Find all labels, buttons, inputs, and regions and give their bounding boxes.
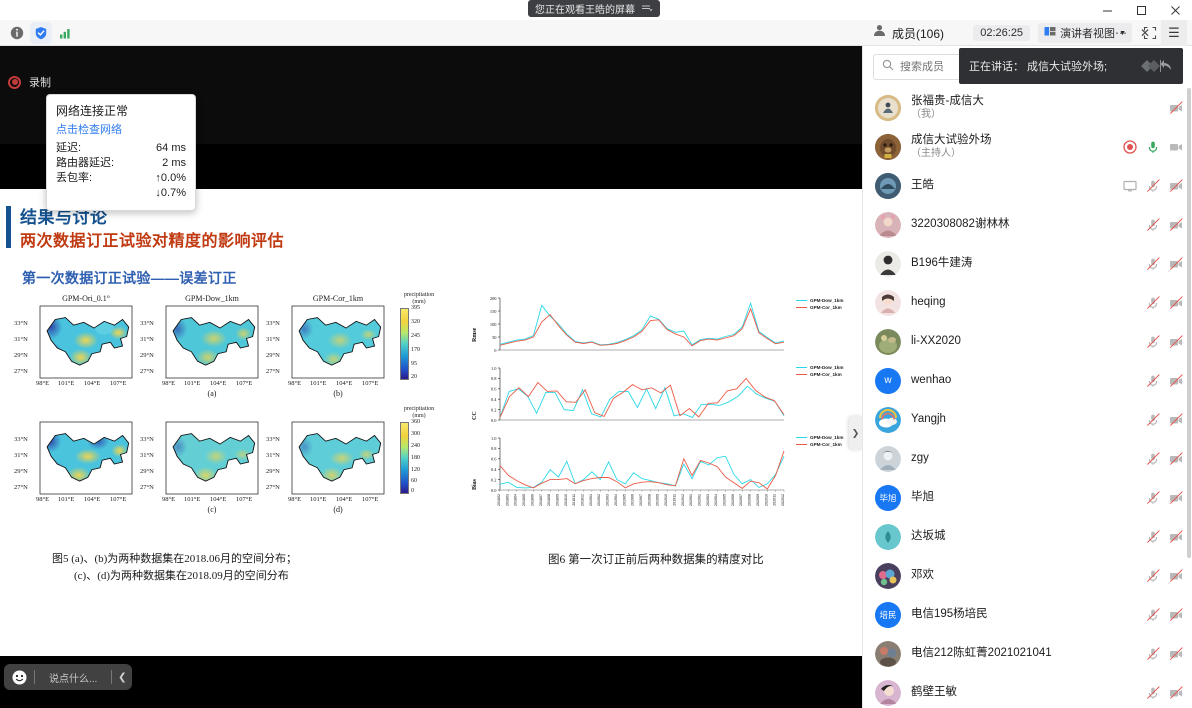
map-sublabel-d: (d) xyxy=(292,505,384,514)
participant-name: wenhao xyxy=(911,374,951,387)
svg-text:0.8: 0.8 xyxy=(491,446,497,451)
svg-text:202001: 202001 xyxy=(689,494,693,506)
svg-text:202002: 202002 xyxy=(698,494,702,506)
participants-panel-title: 成员(106) xyxy=(892,25,944,42)
microphone-off-icon[interactable] xyxy=(1146,530,1160,544)
microphone-off-icon[interactable] xyxy=(1146,374,1160,388)
panel-collapse-handle[interactable]: ❯ xyxy=(849,416,862,450)
camera-off-icon[interactable] xyxy=(1169,569,1183,583)
check-network-link[interactable]: 点击检查网络 xyxy=(56,121,186,137)
figure5-caption: 图5 (a)、(b)为两种数据集在2018.06月的空间分布； (c)、(d)为… xyxy=(52,551,372,585)
avatar xyxy=(875,680,901,706)
participant-status-icons xyxy=(1146,491,1183,505)
svg-text:0.6: 0.6 xyxy=(491,387,497,392)
map-figure-group: GPM-Ori_0.1° GPM-Dow_1km GPM-Cor_1km 33°… xyxy=(14,294,454,524)
participant-status-icons xyxy=(1123,179,1183,193)
participant-status-icons xyxy=(1146,296,1183,310)
svg-text:201808: 201808 xyxy=(547,494,551,506)
participant-status-icons xyxy=(1146,647,1183,661)
list-item[interactable]: w wenhao xyxy=(863,361,1192,400)
screen-share-menu-icon[interactable] xyxy=(641,4,653,14)
list-item[interactable]: 成信大试验外场 （主持人） xyxy=(863,127,1192,166)
cc-legend: GPM-Dow_1km GPM-Cor_1km xyxy=(796,364,843,378)
svg-text:201911: 201911 xyxy=(672,494,676,506)
packetloss-down-value: ↓0.7% xyxy=(56,186,186,201)
chat-input-placeholder[interactable]: 说点什么... xyxy=(35,670,111,685)
participant-name: 达坂城 xyxy=(911,530,946,543)
svg-text:201804: 201804 xyxy=(514,494,518,506)
screen-share-notice: 您正在观看王皓的屏幕 xyxy=(528,0,660,17)
svg-text:202006: 202006 xyxy=(731,494,735,506)
network-status-tooltip: 网络连接正常 点击检查网络 延迟: 64 ms 路由器延迟: 2 ms 丢包率:… xyxy=(46,94,196,211)
map-panel-5 xyxy=(166,422,261,494)
recording-label: 录制 xyxy=(29,74,51,90)
svg-text:202005: 202005 xyxy=(723,494,727,506)
map-panel-2 xyxy=(166,306,261,378)
signal-bars-icon[interactable] xyxy=(54,22,76,44)
bias-legend: GPM-Dow_1km GPM-Cor_1km xyxy=(796,434,843,448)
microphone-off-icon[interactable] xyxy=(1146,686,1160,700)
minimize-button[interactable] xyxy=(1090,0,1124,20)
microphone-off-icon[interactable] xyxy=(1146,296,1160,310)
avatar xyxy=(875,251,901,277)
camera-off-icon[interactable] xyxy=(1169,413,1183,427)
participant-name: 成信大试验外场 xyxy=(911,134,992,147)
avatar: 培民 xyxy=(875,602,901,628)
microphone-off-icon[interactable] xyxy=(1146,491,1160,505)
svg-text:201901: 201901 xyxy=(589,494,593,506)
map-xticks-1: 98°E 101°E 104°E 107°E xyxy=(40,379,132,389)
avatar-initial: 培民 xyxy=(879,609,896,621)
window-controls xyxy=(1090,0,1192,20)
map-panel-4 xyxy=(39,422,135,494)
svg-text:0.0: 0.0 xyxy=(491,488,497,493)
svg-text:202007: 202007 xyxy=(739,494,743,506)
slide-heading-2: 两次数据订正试验对精度的影响评估 xyxy=(20,227,284,251)
svg-text:201803: 201803 xyxy=(505,494,509,506)
svg-text:1.0: 1.0 xyxy=(491,366,497,371)
presentation-slide: 结果与讨论 两次数据订正试验对精度的影响评估 第一次数据订正试验——误差订正 xyxy=(0,189,862,656)
svg-text:200: 200 xyxy=(490,296,497,301)
camera-off-icon[interactable] xyxy=(1169,686,1183,700)
colorbar-top-gradient xyxy=(400,308,409,380)
map-panel-6 xyxy=(292,422,387,494)
participant-status-icons xyxy=(1146,374,1183,388)
avatar xyxy=(875,329,901,355)
avatar: w xyxy=(875,368,901,394)
microphone-off-icon[interactable] xyxy=(1146,179,1160,193)
avatar xyxy=(875,212,901,238)
series-GPM-Dow_1km xyxy=(500,386,784,417)
colorbar-bottom-ticks: 360 300 240 180 120 60 0 xyxy=(411,422,439,494)
svg-text:0.0: 0.0 xyxy=(491,418,497,423)
series-GPM-Dow_1km xyxy=(500,303,784,345)
participants-panel-header: 成员(106) ⋯ ✕ ☰ xyxy=(863,20,1192,46)
record-icon xyxy=(8,76,21,89)
list-item[interactable]: 达坂城 xyxy=(863,517,1192,556)
map-xticks-5: 98°E 101°E 104°E 107°E xyxy=(166,495,258,505)
camera-icon[interactable] xyxy=(1169,140,1183,154)
chat-input-bar[interactable]: 说点什么... ❮ xyxy=(4,664,132,690)
slide-heading-3: 第一次数据订正试验——误差订正 xyxy=(22,268,237,288)
list-item[interactable]: 张福贵-成信大 （我） xyxy=(863,88,1192,127)
participant-name: B196牛建涛 xyxy=(911,257,972,270)
participant-name: 鹤壁王敏 xyxy=(911,686,957,699)
map-title-1: GPM-Ori_0.1° xyxy=(40,294,132,303)
svg-text:201905: 201905 xyxy=(622,494,626,506)
screen-letterbox-bottom: 说点什么... ❮ xyxy=(0,656,862,708)
camera-off-icon[interactable] xyxy=(1169,374,1183,388)
list-item[interactable]: 鹤壁王敏 xyxy=(863,673,1192,708)
participant-name: 王皓 xyxy=(911,179,934,192)
chart-bias: 0.00.20.40.60.81.0 xyxy=(491,436,784,493)
avatar xyxy=(875,290,901,316)
router-latency-value: 2 ms xyxy=(162,156,186,171)
participant-name: li-XX2020 xyxy=(911,335,961,348)
svg-text:202003: 202003 xyxy=(706,494,710,506)
list-item[interactable]: li-XX2020 xyxy=(863,322,1192,361)
svg-text:202011: 202011 xyxy=(773,494,777,506)
participant-name: 张福贵-成信大 xyxy=(911,95,984,108)
latency-value: 64 ms xyxy=(156,141,186,156)
colorbar-bottom-label: precipitation (mm) xyxy=(396,406,442,420)
svg-text:201810: 201810 xyxy=(564,494,568,506)
participant-name: 毕旭 xyxy=(911,491,934,504)
speaking-tooltip: 正在讲话： 成信大试验外场; xyxy=(959,48,1183,84)
colorbar-bottom-gradient xyxy=(400,422,409,494)
chart-cc: 0.00.20.40.60.81.0 xyxy=(491,366,784,423)
participant-name: Yangjh xyxy=(911,413,946,426)
packetloss-up-value: ↑0.0% xyxy=(155,171,186,186)
camera-off-icon[interactable] xyxy=(1169,608,1183,622)
map-title-2: GPM-Dow_1km xyxy=(166,294,258,303)
info-icon[interactable] xyxy=(6,22,28,44)
list-item[interactable]: 毕旭 毕旭 xyxy=(863,478,1192,517)
svg-text:201910: 201910 xyxy=(664,494,668,506)
list-item[interactable]: B196牛建涛 xyxy=(863,244,1192,283)
list-item[interactable]: 培民 电信195杨培民 xyxy=(863,595,1192,634)
avatar xyxy=(875,446,901,472)
svg-text:0: 0 xyxy=(494,348,497,353)
record-icon[interactable] xyxy=(1123,140,1137,154)
map-panel-3 xyxy=(292,306,387,378)
speaking-tooltip-text: 正在讲话： 成信大试验外场; xyxy=(969,58,1107,74)
packetloss-label: 丢包率: xyxy=(56,171,92,186)
microphone-off-icon[interactable] xyxy=(1146,218,1160,232)
avatar xyxy=(875,95,901,121)
list-item[interactable]: 王皓 xyxy=(863,166,1192,205)
slide-accent-bar xyxy=(6,206,11,248)
chart-rmse: 050100150200 xyxy=(490,296,784,353)
figure5-caption-line1: 图5 (a)、(b)为两种数据集在2018.06月的空间分布； xyxy=(52,551,372,568)
camera-off-icon[interactable] xyxy=(1169,218,1183,232)
participant-status-icons xyxy=(1169,101,1183,115)
avatar xyxy=(875,134,901,160)
avatar-initial: 毕旭 xyxy=(879,492,896,504)
camera-off-icon[interactable] xyxy=(1169,491,1183,505)
svg-text:201805: 201805 xyxy=(522,494,526,506)
camera-off-icon[interactable] xyxy=(1169,257,1183,271)
people-icon xyxy=(873,24,886,42)
participant-name: heqing xyxy=(911,296,946,309)
screen-share-notice-text: 您正在观看王皓的屏幕 xyxy=(535,1,635,16)
svg-text:100: 100 xyxy=(490,322,497,327)
svg-text:201906: 201906 xyxy=(631,494,635,506)
router-latency-label: 路由器延迟: xyxy=(56,156,114,171)
avatar xyxy=(875,524,901,550)
svg-text:0.8: 0.8 xyxy=(491,376,497,381)
participant-status-icons xyxy=(1146,413,1183,427)
camera-off-icon[interactable] xyxy=(1169,179,1183,193)
svg-text:201802: 201802 xyxy=(497,494,501,506)
participant-role: （我） xyxy=(911,108,984,121)
svg-text:0.2: 0.2 xyxy=(491,477,497,482)
participant-role: （主持人） xyxy=(911,147,992,160)
svg-text:50: 50 xyxy=(492,335,497,340)
participant-list[interactable]: 张福贵-成信大 （我） 成信大试验外场 （主持人） xyxy=(863,88,1192,708)
participant-status-icons xyxy=(1146,452,1183,466)
participant-name: 邓欢 xyxy=(911,569,934,582)
map-sublabel-a: (a) xyxy=(166,389,258,398)
microphone-off-icon[interactable] xyxy=(1146,335,1160,349)
avatar-initial: w xyxy=(884,375,891,386)
svg-text:201912: 201912 xyxy=(681,494,685,506)
maximize-button[interactable] xyxy=(1124,0,1158,20)
camera-off-icon[interactable] xyxy=(1169,101,1183,115)
screen-share-icon[interactable] xyxy=(1123,179,1137,193)
participant-name: 电信195杨培民 xyxy=(911,608,988,621)
map-panel-1 xyxy=(40,306,135,378)
hamburger-icon[interactable]: ☰ xyxy=(1161,20,1187,46)
svg-text:201909: 201909 xyxy=(656,494,660,506)
svg-text:202012: 202012 xyxy=(781,494,785,506)
bias-axis-title: Bias xyxy=(472,479,478,490)
participant-name: 3220308082谢林林 xyxy=(911,218,1009,231)
map-sublabel-c: (c) xyxy=(166,505,258,514)
microphone-on-icon[interactable] xyxy=(1146,140,1160,154)
svg-text:201903: 201903 xyxy=(606,494,610,506)
latency-label: 延迟: xyxy=(56,141,81,156)
list-item[interactable]: 电信212陈虹菁2021021041 xyxy=(863,634,1192,673)
timeseries-svg: 0501001502000.00.20.40.60.81.00.00.20.40… xyxy=(466,292,854,542)
svg-text:202004: 202004 xyxy=(714,494,718,506)
network-router-latency-row: 路由器延迟: 2 ms xyxy=(56,156,186,171)
list-item[interactable]: zgy xyxy=(863,439,1192,478)
more-icon[interactable]: ⋯ xyxy=(1113,26,1129,40)
svg-text:150: 150 xyxy=(490,309,497,314)
shared-screen-area: 录制 网络连接正常 点击检查网络 延迟: 64 ms 路由器延迟: 2 ms 丢… xyxy=(0,46,862,708)
svg-text:0.4: 0.4 xyxy=(491,397,497,402)
participant-status-icons xyxy=(1146,686,1183,700)
svg-text:201902: 201902 xyxy=(597,494,601,506)
svg-text:1.0: 1.0 xyxy=(491,436,497,441)
figure5-caption-line2: (c)、(d)为两种数据集在2018.09月的空间分布 xyxy=(52,568,372,585)
colorbar-top: precipitation (mm) 395 320 245 170 95 20 xyxy=(396,292,442,380)
svg-text:201807: 201807 xyxy=(539,494,543,506)
map-xticks-3: 98°E 101°E 104°E 107°E xyxy=(292,379,384,389)
avatar xyxy=(875,407,901,433)
svg-text:201908: 201908 xyxy=(647,494,651,506)
participant-status-icons xyxy=(1146,569,1183,583)
svg-text:0.6: 0.6 xyxy=(491,457,497,462)
camera-off-icon[interactable] xyxy=(1169,530,1183,544)
microphone-off-icon[interactable] xyxy=(1146,257,1160,271)
security-shield-icon[interactable] xyxy=(30,22,52,44)
svg-text:202010: 202010 xyxy=(764,494,768,506)
search-icon xyxy=(882,58,894,76)
panel-scrollbar[interactable] xyxy=(1187,88,1191,558)
microphone-off-icon[interactable] xyxy=(1146,569,1160,583)
network-status-title: 网络连接正常 xyxy=(56,102,186,119)
avatar xyxy=(875,563,901,589)
camera-off-icon[interactable] xyxy=(1169,335,1183,349)
participant-name: zgy xyxy=(911,452,929,465)
speaking-tooltip-icons xyxy=(1139,58,1173,74)
microphone-off-icon[interactable] xyxy=(1146,413,1160,427)
camera-off-icon[interactable] xyxy=(1169,452,1183,466)
network-latency-row: 延迟: 64 ms xyxy=(56,141,186,156)
avatar: 毕旭 xyxy=(875,485,901,511)
map-xticks-4: 98°E 101°E 104°E 107°E xyxy=(40,495,132,505)
svg-text:201812: 201812 xyxy=(581,494,585,506)
timeseries-figure-group: 0501001502000.00.20.40.60.81.00.00.20.40… xyxy=(466,292,854,542)
map-xticks-2: 98°E 101°E 104°E 107°E xyxy=(166,379,258,389)
rmse-axis-title: Rmse xyxy=(472,328,478,342)
microphone-off-icon[interactable] xyxy=(1146,452,1160,466)
list-item[interactable]: 3220308082谢林林 xyxy=(863,205,1192,244)
svg-text:202009: 202009 xyxy=(756,494,760,506)
close-button[interactable] xyxy=(1158,0,1192,20)
svg-text:201809: 201809 xyxy=(556,494,560,506)
colorbar-top-label: precipitation (mm) xyxy=(396,292,442,306)
participant-name: 电信212陈虹菁2021021041 xyxy=(911,647,1052,660)
svg-text:201806: 201806 xyxy=(530,494,534,506)
camera-off-icon[interactable] xyxy=(1169,296,1183,310)
participant-status-icons xyxy=(1146,218,1183,232)
close-panel-icon[interactable]: ✕ xyxy=(1137,26,1153,40)
meeting-window: 您正在观看王皓的屏幕 02:26:25 演讲者视图 ▼ 录制 xyxy=(0,0,1192,708)
microphone-off-icon[interactable] xyxy=(1146,608,1160,622)
list-item[interactable]: 邓欢 xyxy=(863,556,1192,595)
svg-text:201907: 201907 xyxy=(639,494,643,506)
colorbar-top-ticks: 395 320 245 170 95 20 xyxy=(411,308,439,380)
map-xticks-6: 98°E 101°E 104°E 107°E xyxy=(292,495,384,505)
list-item[interactable]: heqing xyxy=(863,283,1192,322)
svg-text:201811: 201811 xyxy=(572,494,576,506)
avatar xyxy=(875,173,901,199)
participant-status-icons xyxy=(1146,608,1183,622)
svg-text:201904: 201904 xyxy=(614,494,618,506)
colorbar-bottom: precipitation (mm) 360 300 240 180 120 6… xyxy=(396,406,442,494)
participant-status-icons xyxy=(1146,530,1183,544)
camera-off-icon[interactable] xyxy=(1169,647,1183,661)
cc-axis-title: CC xyxy=(472,411,478,420)
participant-status-icons xyxy=(1123,140,1183,154)
meeting-toolbar xyxy=(0,20,862,46)
figure6-caption: 图6 第一次订正前后两种数据集的精度对比 xyxy=(548,551,764,567)
list-item[interactable]: Yangjh xyxy=(863,400,1192,439)
participants-panel: 成员(106) ⋯ ✕ ☰ 正在讲话： 成信大试验外场; xyxy=(862,46,1192,708)
chevron-left-icon[interactable]: ❮ xyxy=(112,664,132,690)
rmse-legend: GPM-Dow_1km GPM-Cor_1km xyxy=(796,297,843,311)
recording-indicator: 录制 xyxy=(8,74,51,90)
map-sublabel-b: (b) xyxy=(292,389,384,398)
microphone-off-icon[interactable] xyxy=(1146,647,1160,661)
svg-text:202008: 202008 xyxy=(748,494,752,506)
participant-status-icons xyxy=(1146,257,1183,271)
svg-text:0.4: 0.4 xyxy=(491,467,497,472)
network-packetloss-row: 丢包率: ↑0.0% xyxy=(56,171,186,186)
map-title-3: GPM-Cor_1km xyxy=(292,294,384,303)
avatar xyxy=(875,641,901,667)
svg-text:0.2: 0.2 xyxy=(491,407,497,412)
participant-status-icons xyxy=(1146,335,1183,349)
emoji-icon[interactable] xyxy=(4,664,34,690)
